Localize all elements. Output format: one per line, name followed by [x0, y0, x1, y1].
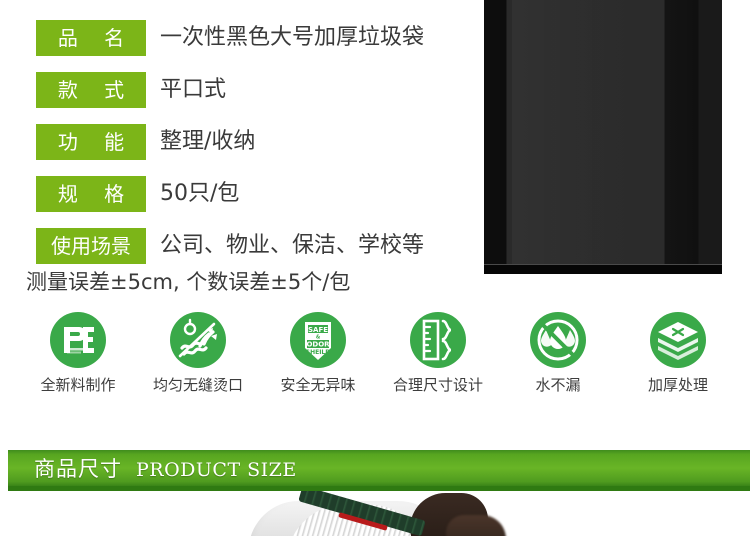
spec-value-specification: 50只/包	[160, 183, 239, 205]
feature-icon-row: 全新料制作	[0, 312, 750, 412]
svg-text:ODOR: ODOR	[306, 341, 330, 349]
svg-text:SHEILD: SHEILD	[306, 349, 330, 356]
spec-label-specification: 规 格	[36, 176, 146, 212]
feature-item-pe-material: 全新料制作	[20, 312, 136, 393]
feature-label: 均匀无缝烫口	[140, 378, 256, 393]
feature-label: 安全无异味	[260, 378, 376, 393]
pe-material-icon	[50, 312, 106, 368]
section-banner-product-size: 商品尺寸 PRODUCT SIZE	[8, 450, 750, 488]
spec-label-function: 功 能	[36, 124, 146, 160]
no-leak-drop-icon	[530, 312, 586, 368]
feature-label: 全新料制作	[20, 378, 136, 393]
feature-label: 合理尺寸设计	[380, 378, 496, 393]
banner-subtitle: PRODUCT SIZE	[136, 459, 297, 481]
thick-layers-icon	[650, 312, 706, 368]
spec-label-usage-scene: 使用场景	[36, 228, 146, 264]
seamless-seal-icon	[170, 312, 226, 368]
hair-shape-front	[446, 515, 506, 536]
feature-item-odor-shield: SAFE & ODOR SHEILD 安全无异味	[260, 312, 376, 393]
spec-value-function: 整理/收纳	[160, 131, 255, 153]
spec-row: 使用场景 公司、物业、保洁、学校等	[36, 228, 424, 264]
product-photo-black-bag	[484, 0, 722, 274]
spec-row: 款 式 平口式	[36, 72, 226, 108]
measurement-tolerance-note: 测量误差±5cm, 个数误差±5个/包	[26, 272, 350, 293]
spec-row: 规 格 50只/包	[36, 176, 239, 212]
spec-value-style: 平口式	[160, 79, 226, 101]
person-figure	[250, 493, 480, 536]
spec-value-product-name: 一次性黑色大号加厚垃圾袋	[160, 27, 424, 49]
photo-glare	[512, 0, 632, 274]
spec-value-usage-scene: 公司、物业、保洁、学校等	[160, 235, 424, 257]
size-ruler-icon	[410, 312, 466, 368]
feature-label: 加厚处理	[620, 378, 736, 393]
banner-title: 商品尺寸	[34, 456, 122, 482]
product-detail-page: 品 名 一次性黑色大号加厚垃圾袋 款 式 平口式 功 能 整理/收纳 规 格 5…	[0, 0, 750, 536]
feature-item-size-design: 合理尺寸设计	[380, 312, 496, 393]
feature-item-no-leak: 水不漏	[500, 312, 616, 393]
spec-label-style: 款 式	[36, 72, 146, 108]
spec-label-product-name: 品 名	[36, 20, 146, 56]
svg-text:SAFE: SAFE	[308, 326, 328, 334]
bottom-lifestyle-photo	[0, 491, 750, 536]
photo-bottom-edge	[484, 264, 722, 274]
spec-row: 品 名 一次性黑色大号加厚垃圾袋	[36, 20, 424, 56]
feature-label: 水不漏	[500, 378, 616, 393]
feature-item-seamless-seal: 均匀无缝烫口	[140, 312, 256, 393]
odor-shield-icon: SAFE & ODOR SHEILD	[290, 312, 346, 368]
feature-item-thickened: 加厚处理	[620, 312, 736, 393]
spec-table: 品 名 一次性黑色大号加厚垃圾袋 款 式 平口式 功 能 整理/收纳 规 格 5…	[0, 0, 470, 300]
spec-row: 功 能 整理/收纳	[36, 124, 255, 160]
